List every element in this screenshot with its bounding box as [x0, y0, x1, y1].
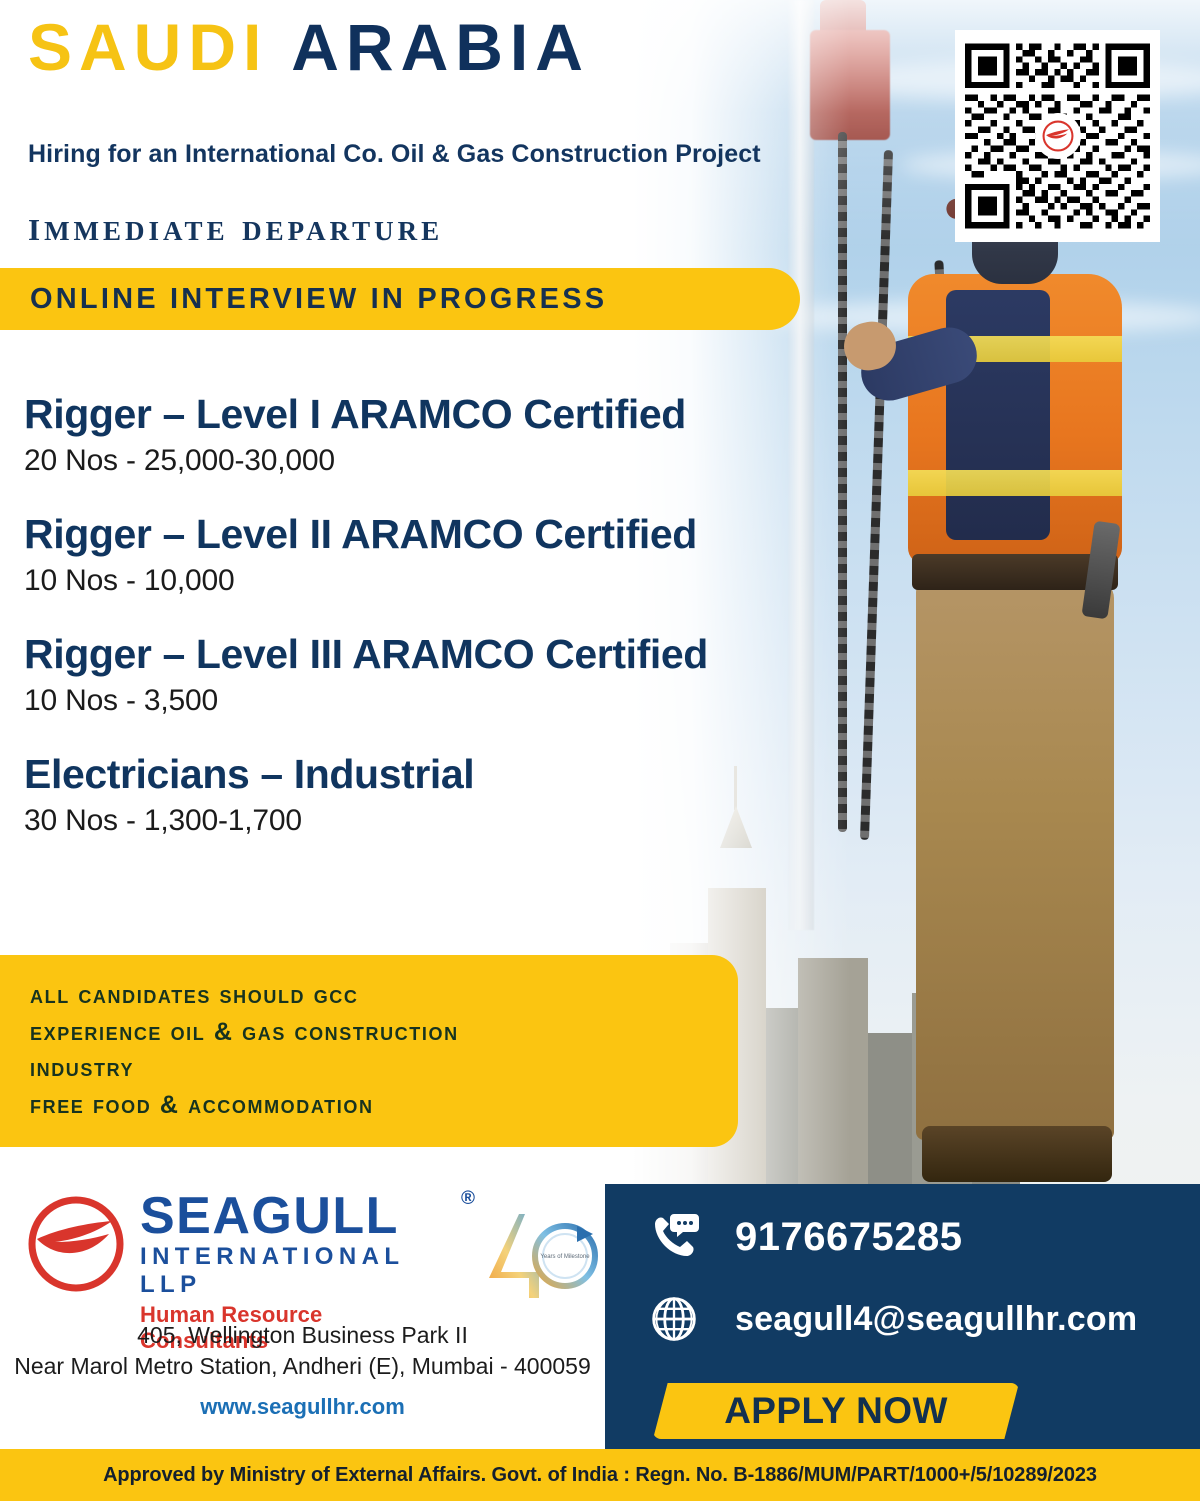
job-meta: 30 Nos - 1,300-1,700 [24, 804, 924, 838]
requirement-line: experience Oil & Gas construction [30, 1014, 708, 1051]
requirement-line: All candidates should GCC [30, 977, 708, 1014]
brand-name: SEAGULL [140, 1192, 453, 1242]
address-line-2: Near Marol Metro Station, Andheri (E), M… [0, 1351, 605, 1382]
anniversary-40-logo: Years of Milestone [481, 1208, 605, 1304]
online-interview-label: ONLINE INTERVIEW IN PROGRESS [30, 283, 607, 316]
approval-text: Approved by Ministry of External Affairs… [103, 1464, 1097, 1487]
job-title: Rigger – Level II ARAMCO Certified [24, 512, 924, 558]
page-title: SAUDI ARABIA [28, 14, 590, 80]
phone-chat-icon [647, 1210, 701, 1264]
requirements-box: All candidates should GCC experience Oil… [0, 955, 738, 1147]
job-meta: 20 Nos - 25,000-30,000 [24, 444, 924, 478]
company-website[interactable]: www.seagullhr.com [0, 1394, 605, 1420]
title-country-second: ARABIA [291, 10, 590, 84]
phone-contact-row[interactable]: 9176675285 [647, 1210, 962, 1264]
contact-panel: 9176675285 seagull4@seagullhr.com APPLY … [605, 1184, 1200, 1449]
qr-center-logo [1035, 113, 1081, 159]
ministry-approval-bar: Approved by Ministry of External Affairs… [0, 1449, 1200, 1501]
company-block: SEAGULL ® INTERNATIONAL LLP Human Resour… [0, 1184, 605, 1418]
registered-mark: ® [461, 1188, 475, 1210]
job-meta: 10 Nos - 3,500 [24, 684, 924, 718]
job-title: Rigger – Level I ARAMCO Certified [24, 392, 924, 438]
job-meta: 10 Nos - 10,000 [24, 564, 924, 598]
job-item: Rigger – Level I ARAMCO Certified 20 Nos… [24, 392, 924, 478]
apply-now-button[interactable]: APPLY NOW [653, 1383, 1019, 1439]
email-contact-row[interactable]: seagull4@seagullhr.com [647, 1292, 1137, 1346]
job-item: Rigger – Level III ARAMCO Certified 10 N… [24, 632, 924, 718]
seagull-logo-icon [24, 1192, 128, 1296]
job-item: Rigger – Level II ARAMCO Certified 10 No… [24, 512, 924, 598]
job-title: Electricians – Industrial [24, 752, 924, 798]
subtitle: Hiring for an International Co. Oil & Ga… [28, 140, 761, 169]
company-address: 405, Wellington Business Park II Near Ma… [0, 1320, 605, 1382]
job-title: Rigger – Level III ARAMCO Certified [24, 632, 924, 678]
online-interview-banner: ONLINE INTERVIEW IN PROGRESS [0, 268, 800, 330]
job-list: Rigger – Level I ARAMCO Certified 20 Nos… [24, 392, 924, 872]
requirement-line: Industry [30, 1050, 708, 1087]
globe-icon [647, 1292, 701, 1346]
qr-code[interactable] [955, 30, 1160, 242]
svg-text:Years of Milestone: Years of Milestone [540, 1254, 590, 1260]
seagull-mark-icon [1041, 119, 1075, 153]
phone-number: 9176675285 [735, 1215, 962, 1260]
email-address: seagull4@seagullhr.com [735, 1300, 1137, 1339]
address-line-1: 405, Wellington Business Park II [0, 1320, 605, 1351]
job-item: Electricians – Industrial 30 Nos - 1,300… [24, 752, 924, 838]
immediate-departure-text: IMMEDIATE DEPARTURE [28, 200, 443, 251]
apply-now-label: APPLY NOW [724, 1390, 948, 1432]
brand-entity: INTERNATIONAL LLP [140, 1243, 453, 1299]
requirement-line: Free food & Accommodation [30, 1087, 708, 1124]
title-country-first: SAUDI [28, 10, 268, 84]
